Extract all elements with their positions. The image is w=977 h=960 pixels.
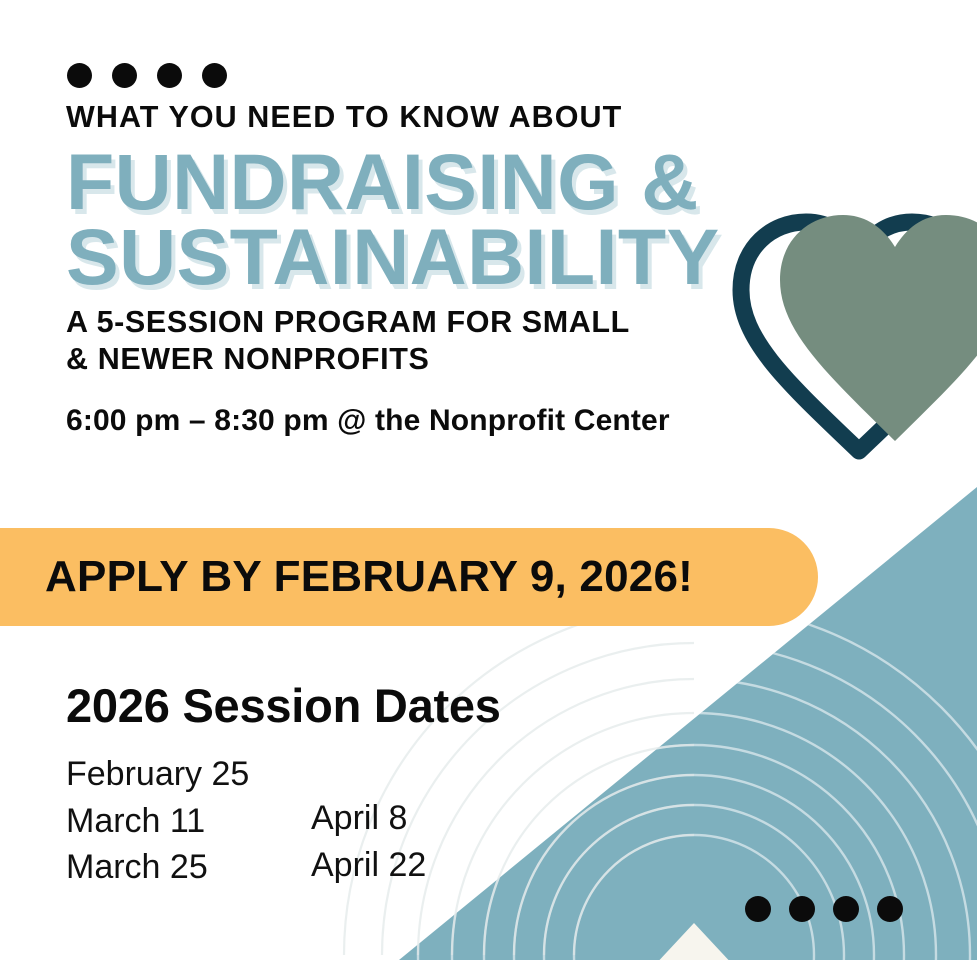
- dot: [202, 63, 227, 88]
- subheading-line-2: & NEWER NONPROFITS: [66, 341, 806, 378]
- dot: [833, 896, 859, 922]
- session-dates-block: 2026 Session Dates February 25 March 11 …: [66, 678, 501, 891]
- session-dates-column-left: February 25 March 11 March 25: [66, 751, 311, 891]
- time-and-location: 6:00 pm – 8:30 pm @ the Nonprofit Center: [66, 404, 806, 438]
- session-dates-columns: February 25 March 11 March 25 April 8 Ap…: [66, 751, 501, 891]
- dot: [789, 896, 815, 922]
- dot: [67, 63, 92, 88]
- subheading: A 5-SESSION PROGRAM FOR SMALL & NEWER NO…: [66, 304, 806, 378]
- poster-canvas: WHAT YOU NEED TO KNOW ABOUT FUNDRAISING …: [0, 0, 977, 960]
- session-date: February 25: [66, 751, 311, 798]
- page-title-line-2: SUSTAINABILITY: [66, 219, 806, 294]
- page-title: FUNDRAISING & SUSTAINABILITY: [66, 144, 806, 294]
- subheading-line-1: A 5-SESSION PROGRAM FOR SMALL: [66, 304, 806, 341]
- session-date: March 25: [66, 844, 311, 891]
- session-date: April 22: [311, 842, 426, 889]
- headline-stack: WHAT YOU NEED TO KNOW ABOUT FUNDRAISING …: [66, 100, 806, 438]
- dot: [157, 63, 182, 88]
- session-date: March 11: [66, 798, 311, 845]
- apply-deadline-label: APPLY BY FEBRUARY 9, 2026!: [45, 552, 693, 602]
- dot: [112, 63, 137, 88]
- page-title-line-1: FUNDRAISING &: [66, 144, 806, 219]
- eyebrow-text: WHAT YOU NEED TO KNOW ABOUT: [66, 100, 806, 136]
- dot: [745, 896, 771, 922]
- session-dates-column-right: April 8 April 22: [311, 751, 426, 888]
- apply-deadline-banner: APPLY BY FEBRUARY 9, 2026!: [0, 528, 818, 626]
- decorative-dots-top: [67, 63, 227, 88]
- dot: [877, 896, 903, 922]
- session-dates-heading: 2026 Session Dates: [66, 678, 501, 733]
- decorative-dots-bottom: [745, 896, 903, 922]
- session-date: April 8: [311, 795, 426, 842]
